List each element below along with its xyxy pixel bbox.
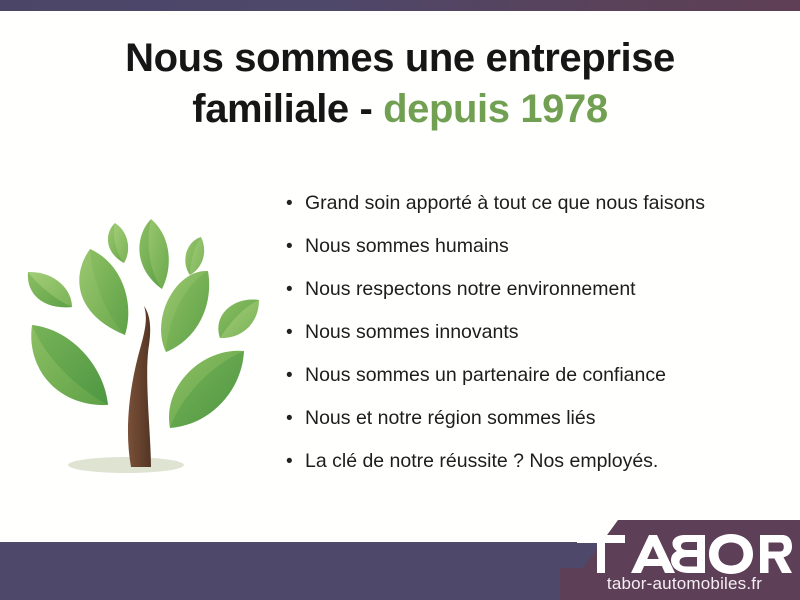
tree-leaf (161, 271, 209, 352)
bullet-marker-icon: • (286, 280, 305, 299)
tree-shadow (68, 457, 184, 473)
tree-leaf (28, 272, 72, 307)
list-item-label: Nous sommes humains (305, 237, 509, 257)
top-accent-bar (0, 0, 800, 11)
heading-accent-year: depuis 1978 (383, 87, 608, 131)
list-item: • Nous sommes un partenaire de confiance (286, 366, 756, 409)
tree-leaf (185, 237, 204, 275)
list-item: • Nous sommes humains (286, 237, 756, 280)
heading-line-2: familiale - depuis 1978 (40, 84, 760, 135)
list-item: • Nous sommes innovants (286, 323, 756, 366)
bullet-marker-icon: • (286, 323, 305, 342)
list-item: • Nous respectons notre environnement (286, 280, 756, 323)
list-item-label: Nous sommes un partenaire de confiance (305, 366, 666, 386)
tree-leaf (79, 249, 128, 335)
bullet-list: • Grand soin apporté à tout ce que nous … (286, 194, 756, 495)
tree-illustration (18, 185, 268, 485)
slide-canvas: Nous sommes une entreprise familiale - d… (0, 0, 800, 600)
brand-logo[interactable]: tabor-automobiles.fr (577, 533, 792, 594)
tree-leaf (108, 223, 128, 263)
tree-leaf (31, 325, 108, 405)
tabor-wordmark-icon (577, 533, 792, 575)
list-item-label: Nous sommes innovants (305, 323, 519, 343)
tree-trunk (128, 306, 151, 467)
page-title: Nous sommes une entreprise familiale - d… (40, 33, 760, 135)
tree-leaf (218, 299, 259, 338)
heading-line-2-plain: familiale - (192, 87, 383, 131)
list-item-label: La clé de notre réussite ? Nos employés. (305, 452, 658, 472)
logo-url-label: tabor-automobiles.fr (577, 574, 792, 594)
tree-illustration-svg (18, 185, 268, 485)
bullet-marker-icon: • (286, 194, 305, 213)
bullet-marker-icon: • (286, 366, 305, 385)
list-item-label: Grand soin apporté à tout ce que nous fa… (305, 194, 705, 214)
logo-wordmark (577, 533, 792, 575)
list-item: • Nous et notre région sommes liés (286, 409, 756, 452)
list-item: • Grand soin apporté à tout ce que nous … (286, 194, 756, 237)
list-item-label: Nous respectons notre environnement (305, 280, 636, 300)
tree-leaf (169, 351, 244, 428)
bullet-marker-icon: • (286, 452, 305, 471)
bullet-marker-icon: • (286, 237, 305, 256)
list-item: • La clé de notre réussite ? Nos employé… (286, 452, 756, 495)
list-item-label: Nous et notre région sommes liés (305, 409, 595, 429)
tree-leaf (139, 219, 168, 289)
heading-line-1: Nous sommes une entreprise (125, 36, 675, 80)
bullet-marker-icon: • (286, 409, 305, 428)
